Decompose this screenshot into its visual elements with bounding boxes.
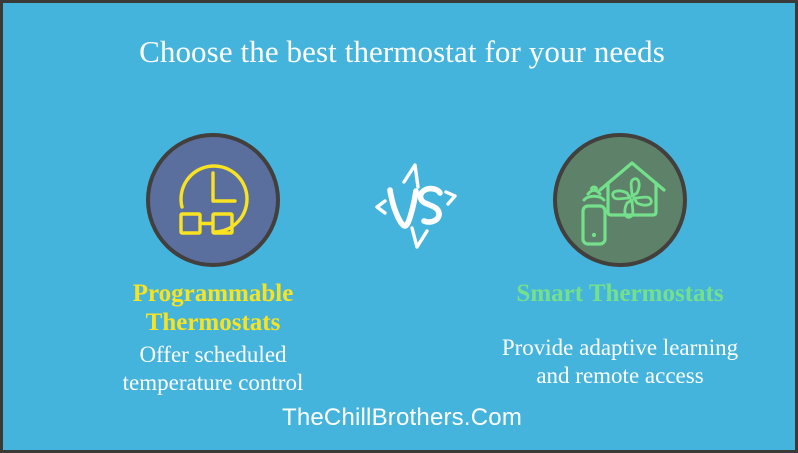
heading-line-1: Programmable <box>48 279 378 308</box>
smart-thermostat-description: Provide adaptive learning and remote acc… <box>455 334 785 390</box>
description-line-1: Offer scheduled <box>48 341 378 369</box>
programmable-thermostat-badge <box>146 133 280 267</box>
smart-home-fan-phone-wifi-icon <box>570 150 670 250</box>
heading-line-2: Thermostats <box>48 308 378 337</box>
programmable-thermostat-heading: Programmable Thermostats <box>48 279 378 337</box>
infographic-canvas: Choose the best thermostat for your need… <box>0 0 798 453</box>
footer-branding: TheChillBrothers.Com <box>3 404 798 432</box>
smart-thermostat-badge <box>553 133 687 267</box>
programmable-thermostat-description: Offer scheduled temperature control <box>48 341 378 397</box>
description-line-1: Provide adaptive learning <box>455 334 785 362</box>
versus-separator <box>370 160 462 252</box>
description-line-2: temperature control <box>48 369 378 397</box>
page-title: Choose the best thermostat for your need… <box>3 35 798 69</box>
description-line-2: and remote access <box>455 362 785 390</box>
heading-line-1: Smart Thermostats <box>455 279 785 308</box>
vs-icon <box>370 160 462 252</box>
smart-thermostat-heading: Smart Thermostats <box>455 279 785 308</box>
programmable-thermostat-schedule-icon <box>165 152 261 248</box>
comparison-column-smart: Smart Thermostats Provide adaptive learn… <box>455 133 785 390</box>
comparison-column-programmable: Programmable Thermostats Offer scheduled… <box>48 133 378 397</box>
